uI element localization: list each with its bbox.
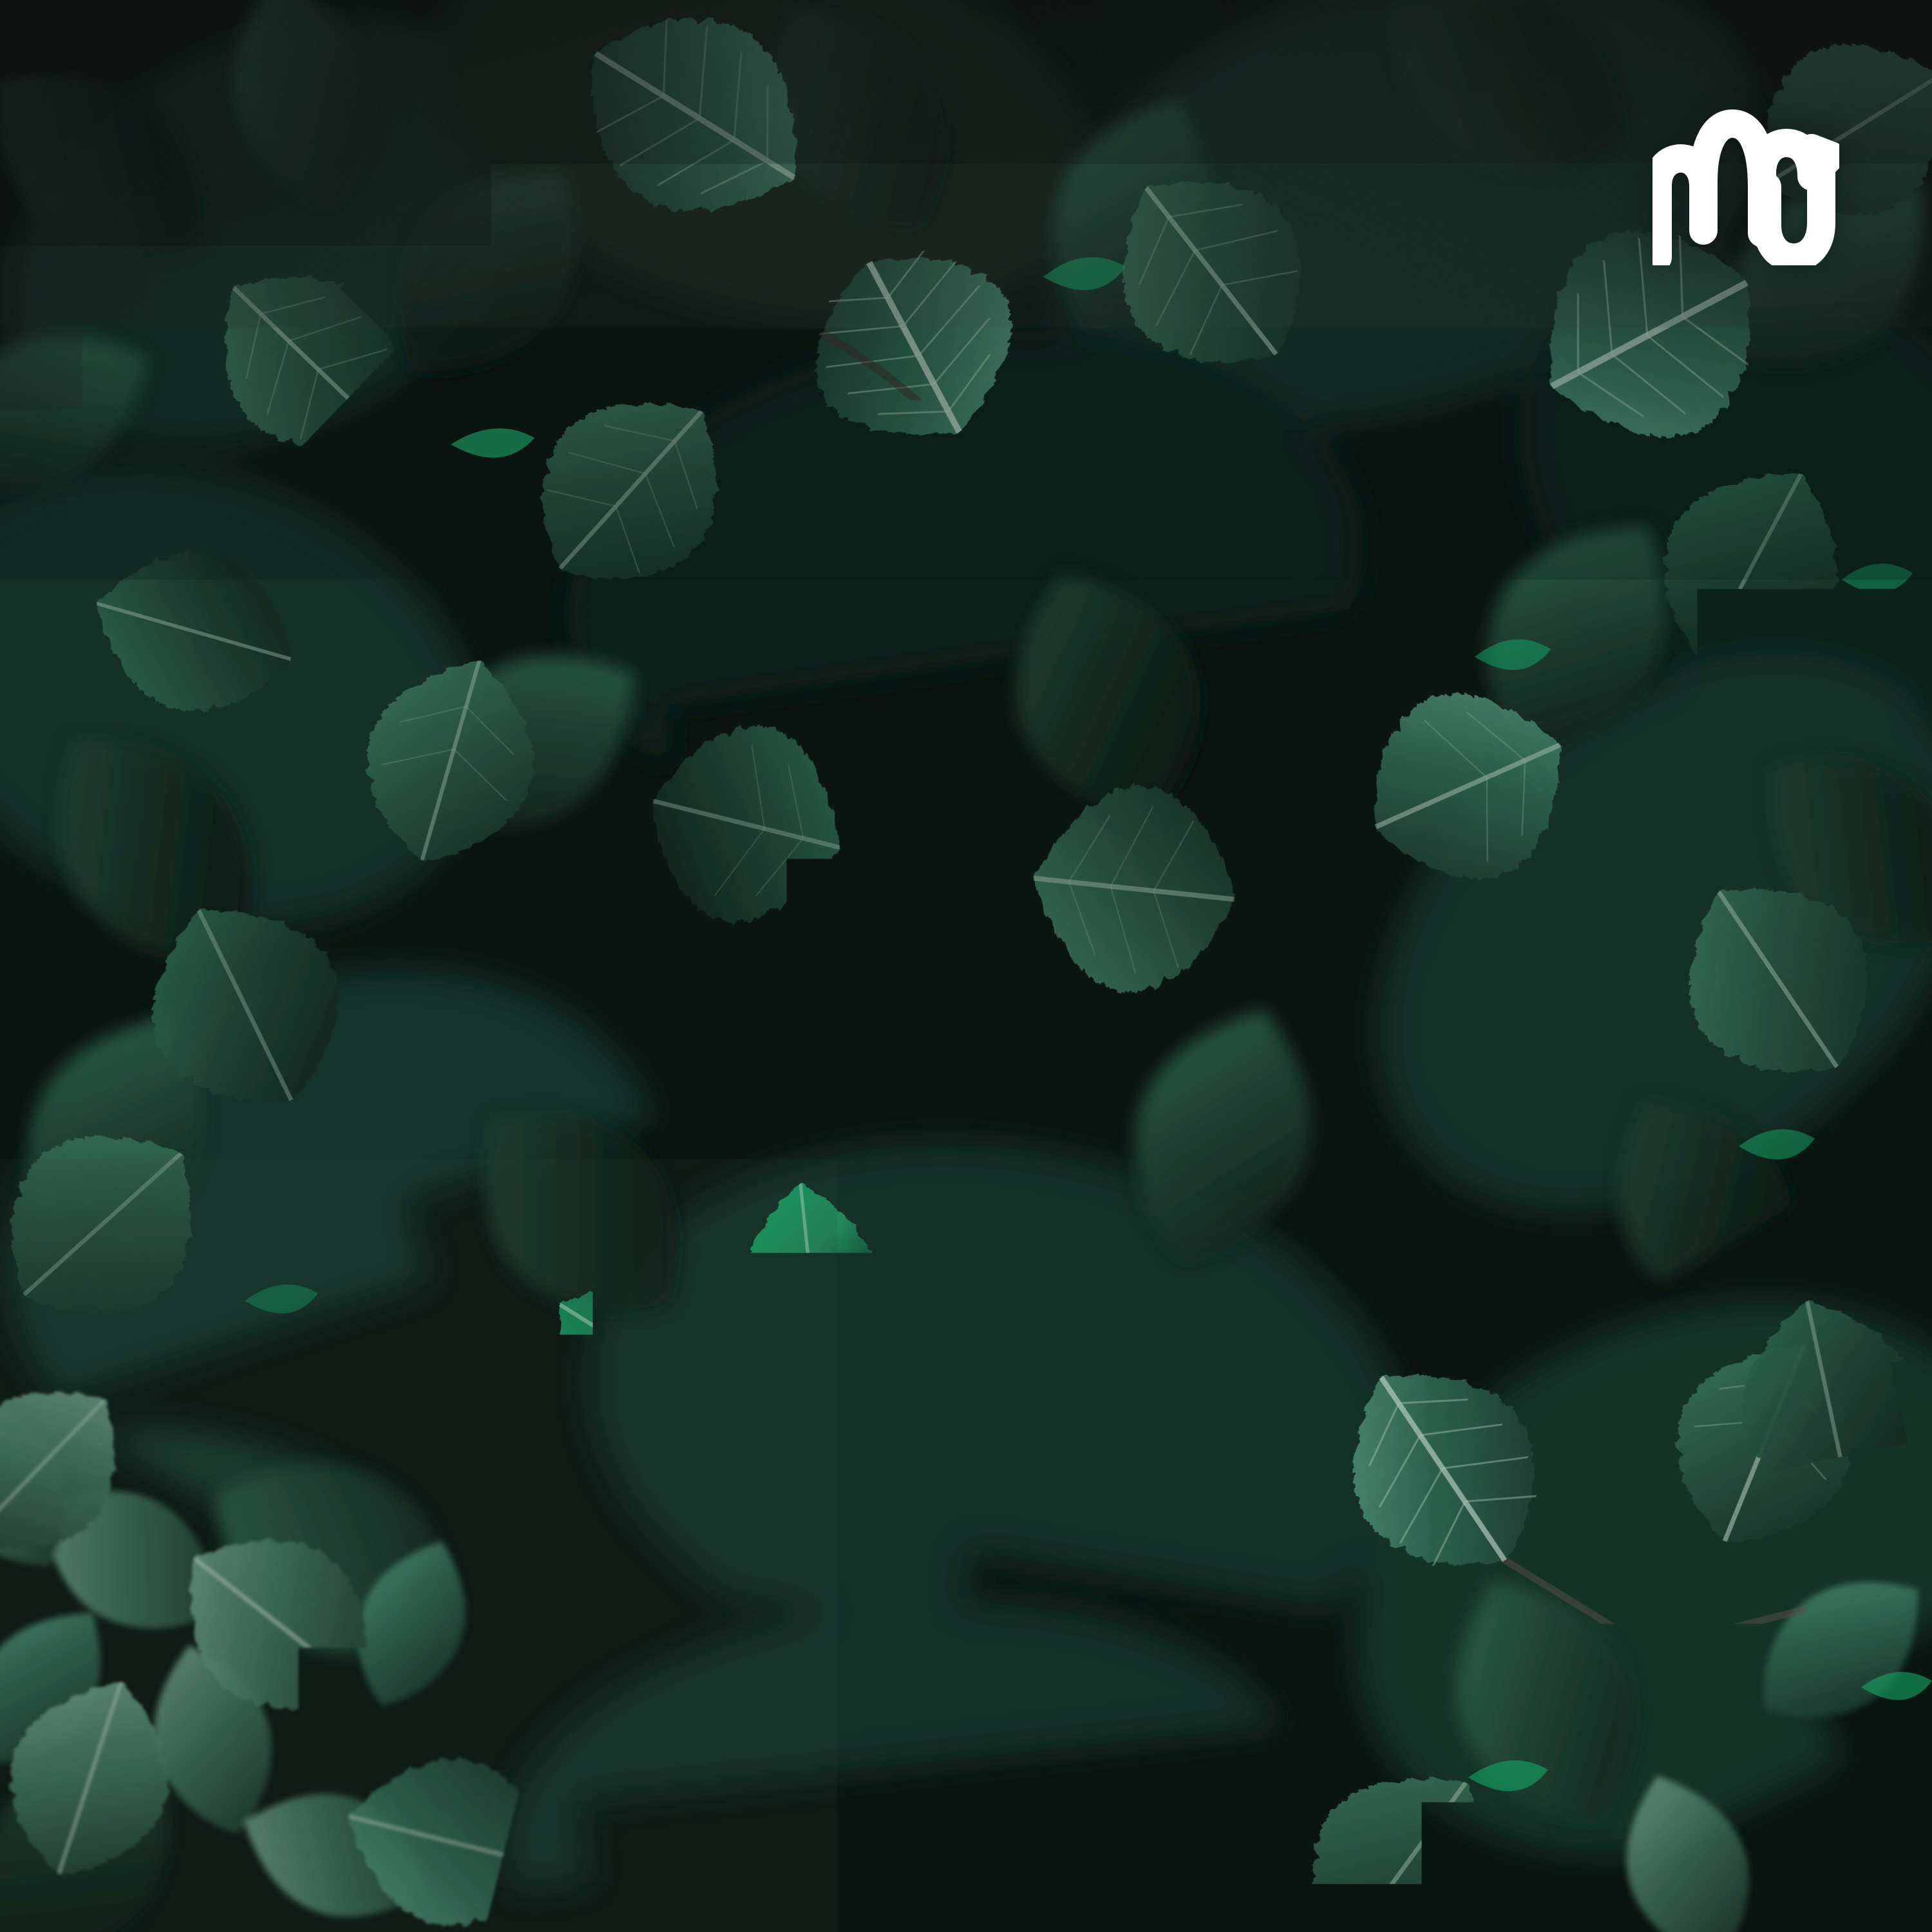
podcast-cover-art: Quarter Life Crisis — [0, 0, 1932, 1932]
waveform-stroke — [1658, 124, 1832, 258]
background-foliage-photo — [0, 0, 1932, 1932]
anchor-waveform-logo — [1653, 97, 1839, 265]
